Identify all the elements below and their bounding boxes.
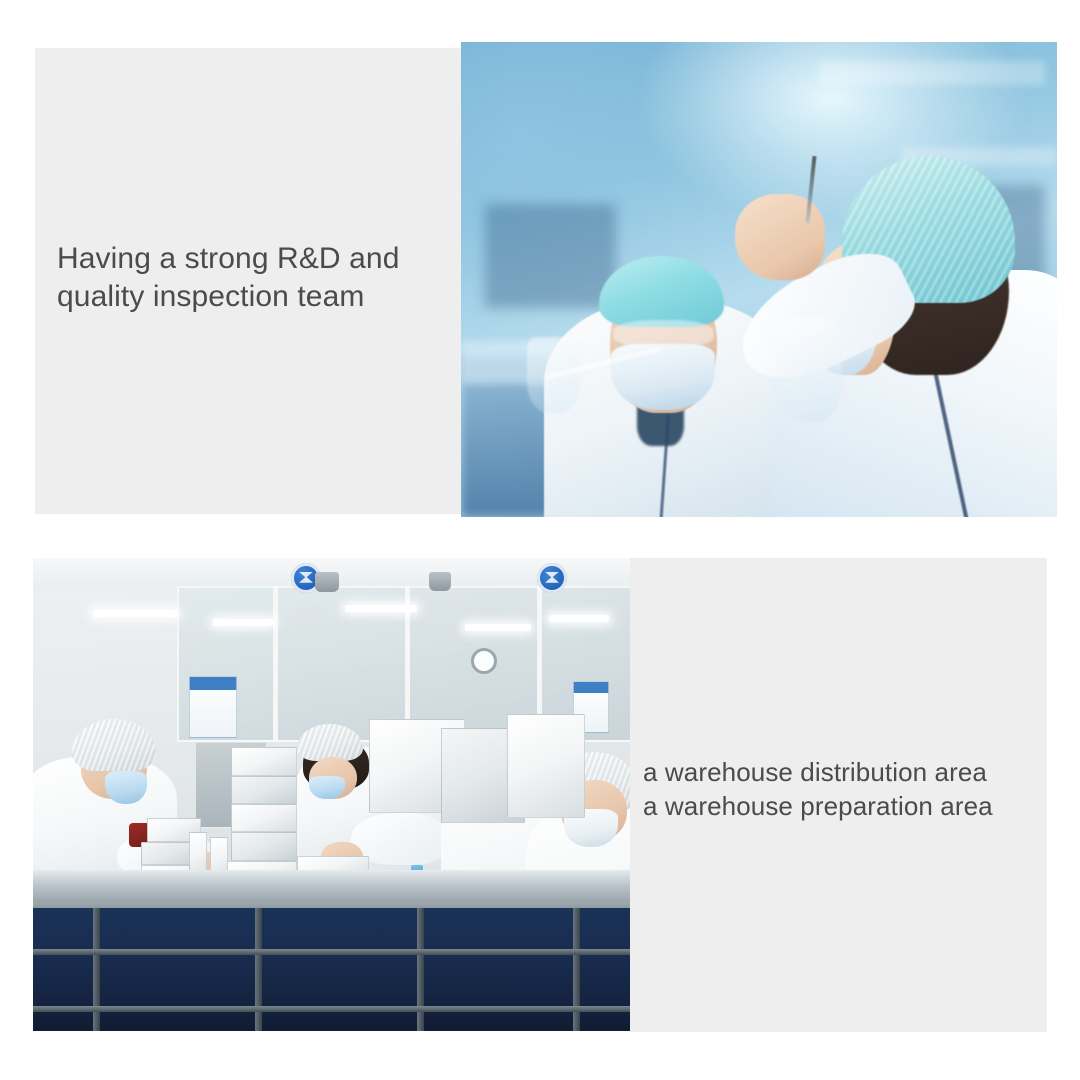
table-leg-3 xyxy=(417,908,424,1031)
carton-tower-4 xyxy=(231,832,297,860)
table-rail-lower xyxy=(33,1006,633,1012)
carton-tower-2 xyxy=(231,776,297,804)
caption-bottom-line-1: a warehouse distribution area xyxy=(643,755,1048,789)
caption-panel-top: Having a strong R&D and quality inspecti… xyxy=(35,48,465,514)
lab-shelf-upper xyxy=(819,61,1045,85)
lab-worker-a-hair-cap xyxy=(599,256,724,327)
laboratory-quality-inspection-photo xyxy=(461,42,1057,517)
table-leg-2 xyxy=(255,908,262,1031)
warehouse-worker-2-hair-net xyxy=(297,724,363,762)
page-root: Having a strong R&D and quality inspecti… xyxy=(0,0,1080,1080)
caption-bottom: a warehouse distribution area a warehous… xyxy=(643,755,1048,824)
caption-top: Having a strong R&D and quality inspecti… xyxy=(57,240,457,316)
table-leg-4 xyxy=(573,908,580,1031)
warehouse-floor xyxy=(33,908,633,1031)
lab-equipment-left xyxy=(485,204,616,309)
warehouse-packing-area-photo xyxy=(33,558,633,1031)
section-warehouse: a warehouse distribution area a warehous… xyxy=(0,540,1080,1080)
carton-stack-rear-3 xyxy=(507,714,585,818)
warehouse-worker-1-hair-net xyxy=(72,719,156,771)
table-leg-1 xyxy=(93,908,100,1031)
caption-top-line-1: Having a strong R&D and xyxy=(57,240,457,278)
section-rnd-quality: Having a strong R&D and quality inspecti… xyxy=(0,0,1080,540)
warehouse-scene xyxy=(33,558,633,1031)
caption-panel-bottom: a warehouse distribution area a warehous… xyxy=(630,558,1047,1032)
warehouse-worker-1-face-mask xyxy=(105,771,147,804)
caption-top-line-2: quality inspection team xyxy=(57,278,457,316)
carton-tower-1 xyxy=(231,747,297,775)
lab-scene xyxy=(461,42,1057,517)
lab-flask xyxy=(777,318,843,423)
carton-tower-3 xyxy=(231,804,297,832)
caption-bottom-line-2: a warehouse preparation area xyxy=(643,789,1048,823)
table-rail-upper xyxy=(33,949,633,955)
